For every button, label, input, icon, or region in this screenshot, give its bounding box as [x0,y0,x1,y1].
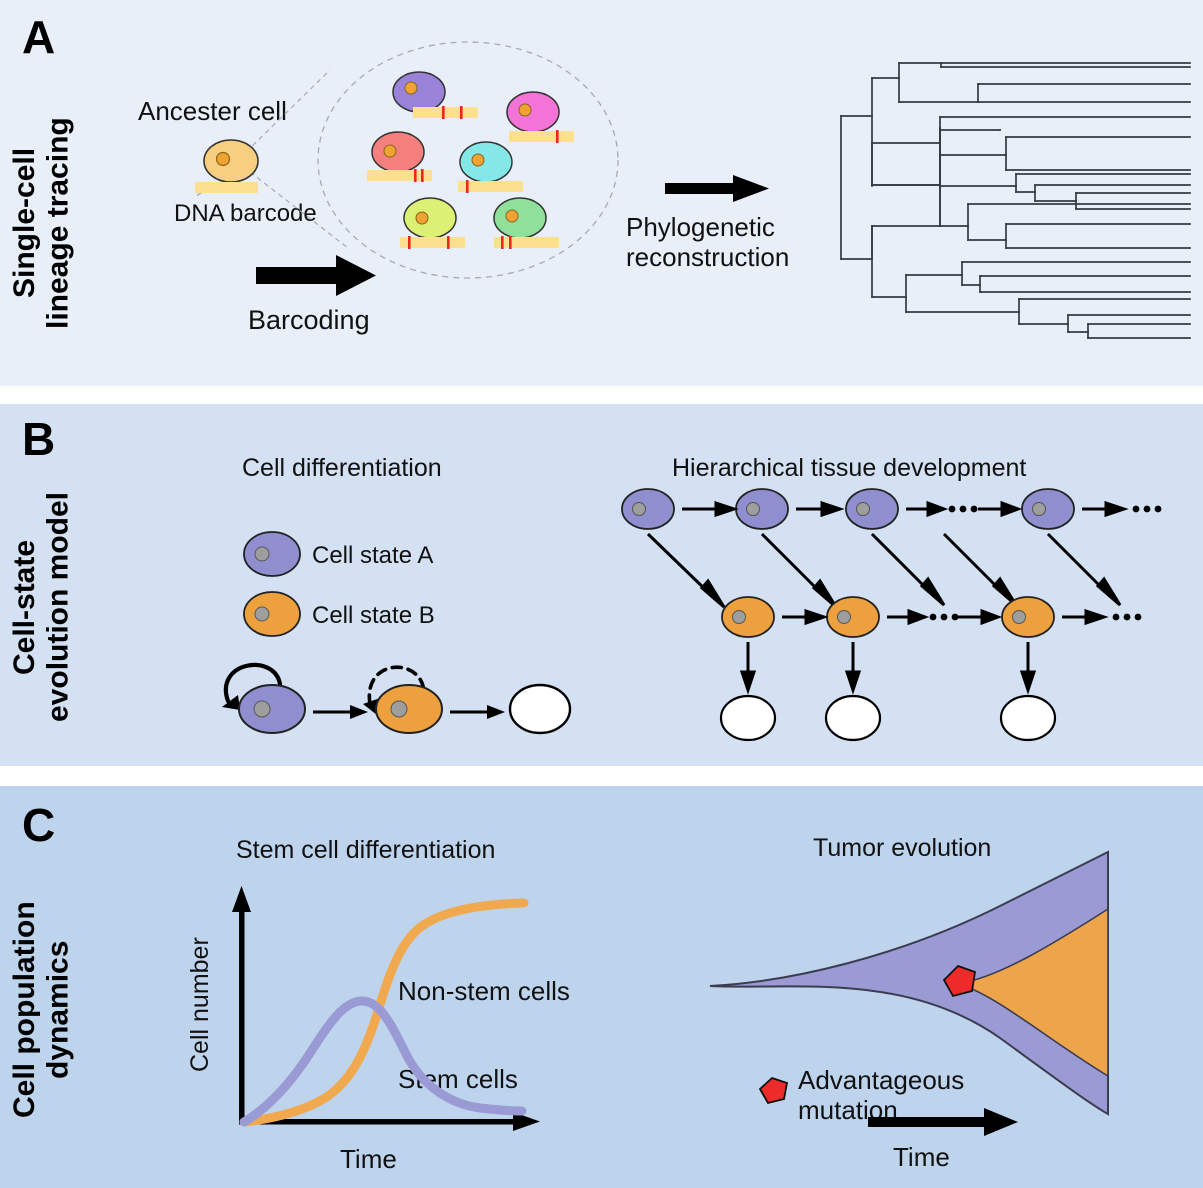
curve-stem-cells [244,1001,522,1122]
hierarchy-diagonal-arrows [648,534,1120,607]
panel-a: A Single-cell lineage tracing Ancester c… [0,0,1203,386]
ancestor-barcode [195,182,258,193]
mutation-legend-icon [760,1078,787,1103]
barcoded-cell-magenta [507,92,574,143]
barcoding-arrow [256,255,376,296]
barcoded-cell-yellow [400,198,465,249]
legend-swatch-cell-state-b [244,592,300,636]
panel-c-graphics: Cell number [0,786,1203,1188]
panel-c: C Cell population dynamics Stem cell dif… [0,786,1203,1188]
phylogenetic-tree [841,63,1190,338]
ancestor-cell [204,140,258,182]
tumor-evolution-plot [710,852,1108,1136]
figure-root: A Single-cell lineage tracing Ancester c… [0,0,1203,1188]
panel-b: B Cell-state evolution model Cell differ… [0,404,1203,766]
y-axis-label-cell-number: Cell number [186,937,214,1072]
barcoded-cell-cyan [458,142,523,193]
phylogenetic-arrow [665,175,769,202]
hierarchy-vertical-arrows [742,642,1034,690]
hierarchy-row-terminal [721,696,1055,740]
panel-b-graphics [0,404,1203,766]
legend-swatch-cell-state-a [244,532,300,576]
barcoded-cell-red [367,132,432,182]
barcoded-cell-green [494,198,559,249]
tumor-time-arrow [868,1108,1018,1136]
differentiation-chain [222,665,570,733]
panel-a-graphics [0,0,1203,386]
hierarchy-diagram [622,489,1161,740]
barcoded-cell-purple [393,72,478,119]
